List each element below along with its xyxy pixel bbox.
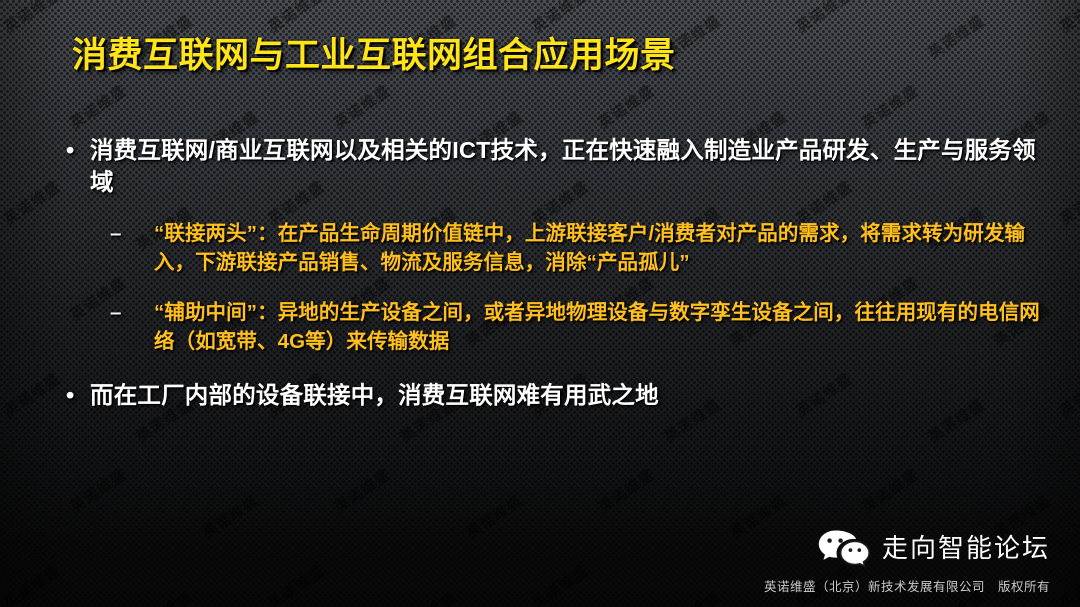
bullet-dash-icon: – xyxy=(110,219,154,249)
bullet-dash-icon: – xyxy=(110,298,154,328)
presentation-slide: 英诺维盛英诺维盛英诺维盛英诺维盛英诺维盛英诺维盛英诺维盛英诺维盛英诺维盛英诺维盛… xyxy=(0,0,1080,607)
bullet-dot-icon: • xyxy=(66,134,90,166)
bullet-level1-item: • 而在工厂内部的设备联接中，消费互联网难有用武之地 xyxy=(66,379,1052,411)
bullet-text: “联接两头”：在产品生命周期价值链中，上游联接客户/消费者对产品的需求，将需求转… xyxy=(154,219,1052,278)
bullet-text: 消费互联网/商业互联网以及相关的ICT技术，正在快速融入制造业产品研发、生产与服… xyxy=(90,134,1052,199)
brand-account-name: 走向智能论坛 xyxy=(882,535,1050,561)
slide-body: • 消费互联网/商业互联网以及相关的ICT技术，正在快速融入制造业产品研发、生产… xyxy=(66,134,1052,411)
wechat-icon xyxy=(818,529,870,567)
bullet-dot-icon: • xyxy=(66,379,90,411)
slide-title: 消费互联网与工业互联网组合应用场景 xyxy=(72,36,676,76)
sub-bullet-group: – “联接两头”：在产品生命周期价值链中，上游联接客户/消费者对产品的需求，将需… xyxy=(66,219,1052,357)
brand-block: 走向智能论坛 xyxy=(818,529,1050,567)
bullet-level2-item: – “辅助中间”：异地的生产设备之间，或者异地物理设备与数字孪生设备之间，往往用… xyxy=(110,298,1052,357)
copyright-notice: 英诺维盛（北京）新技术发展有限公司 版权所有 xyxy=(764,576,1050,595)
bullet-level2-item: – “联接两头”：在产品生命周期价值链中，上游联接客户/消费者对产品的需求，将需… xyxy=(110,219,1052,278)
spacer xyxy=(66,199,1052,219)
slide-content: 消费互联网与工业互联网组合应用场景 • 消费互联网/商业互联网以及相关的ICT技… xyxy=(0,0,1080,607)
bullet-text: 而在工厂内部的设备联接中，消费互联网难有用武之地 xyxy=(90,379,1052,411)
spacer xyxy=(66,357,1052,379)
spacer xyxy=(110,278,1052,298)
bullet-text: “辅助中间”：异地的生产设备之间，或者异地物理设备与数字孪生设备之间，往往用现有… xyxy=(154,298,1052,357)
bullet-level1-item: • 消费互联网/商业互联网以及相关的ICT技术，正在快速融入制造业产品研发、生产… xyxy=(66,134,1052,199)
